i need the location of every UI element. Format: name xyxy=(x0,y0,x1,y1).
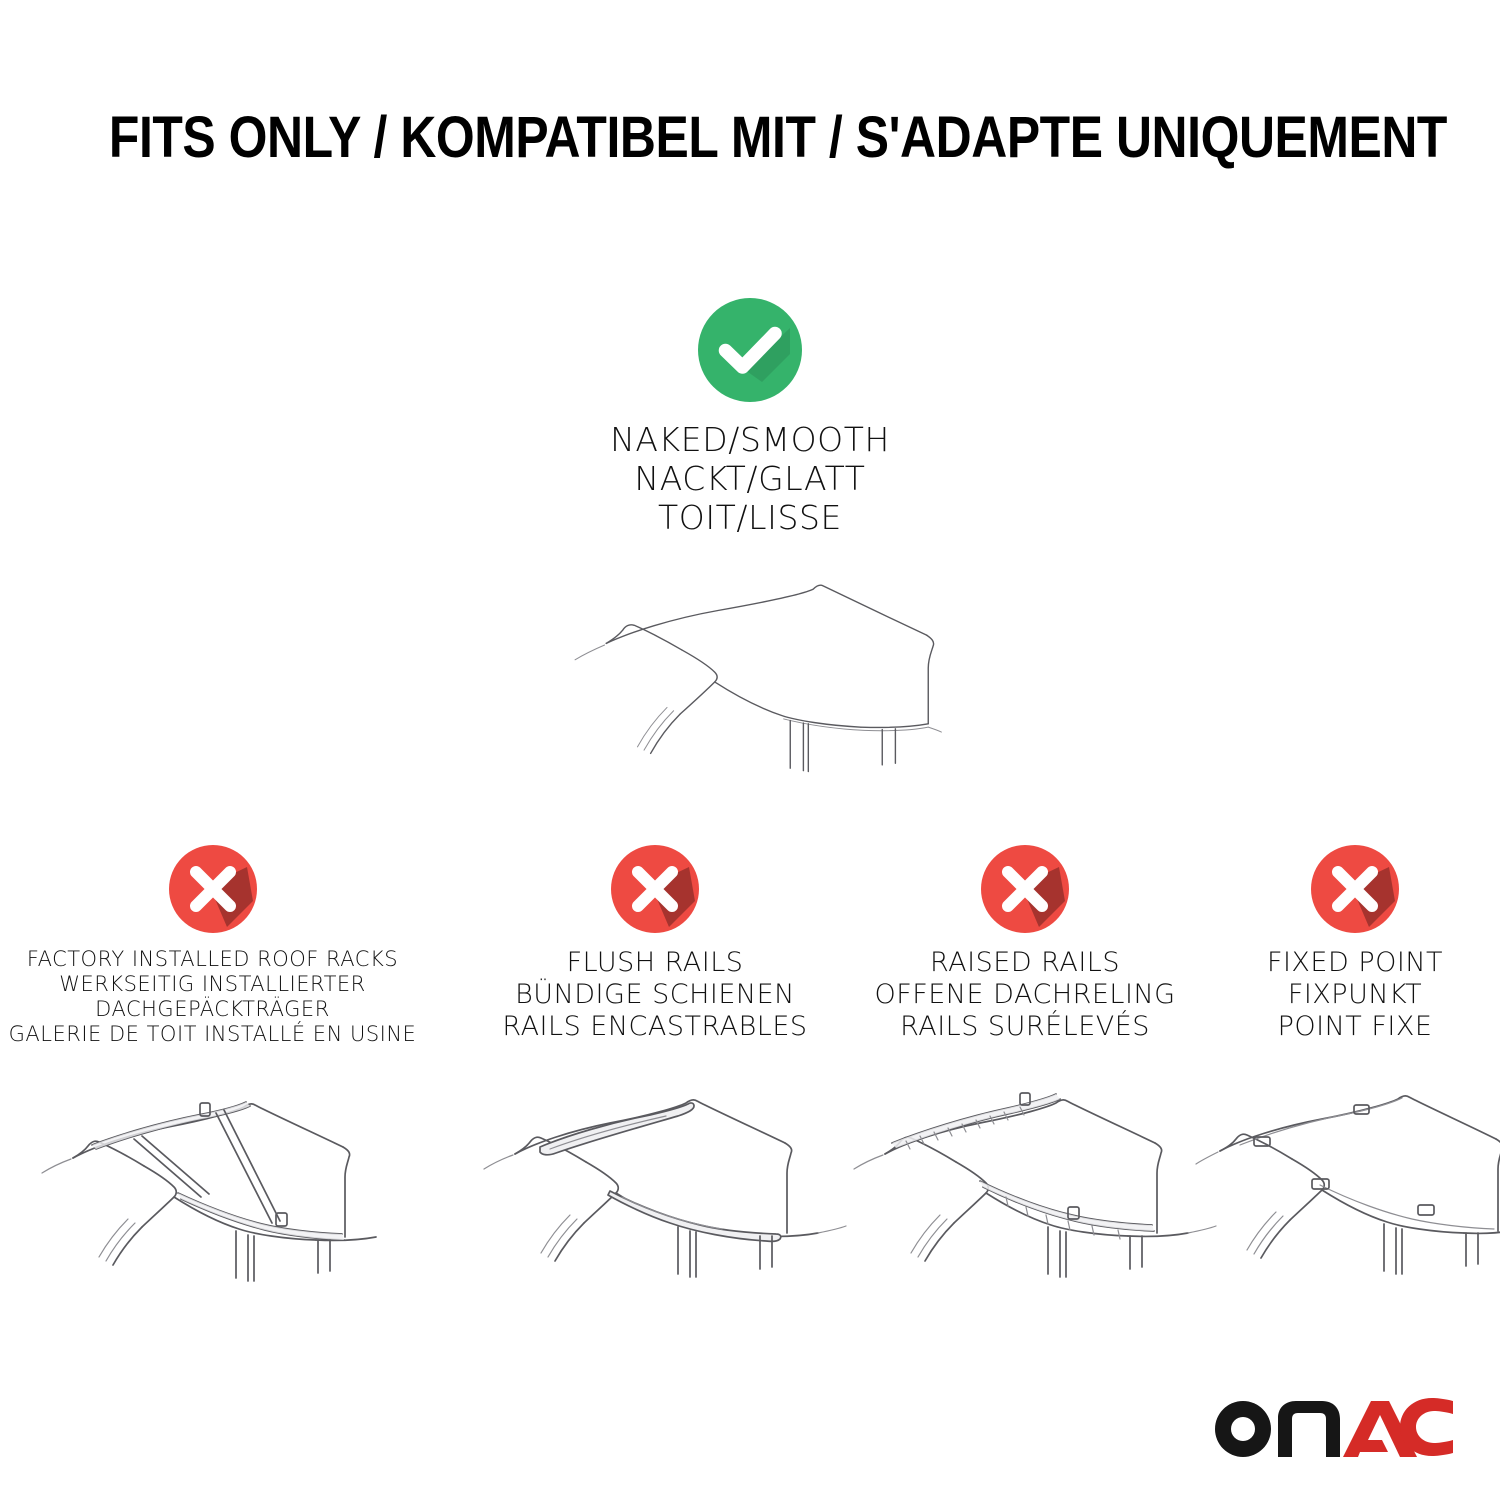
compatible-label-fr: TOIT/LISSE xyxy=(610,498,890,537)
item-label-fr: RAILS SURÉLEVÉS xyxy=(874,1011,1175,1043)
item-label: FIXED POINT FIXPUNKT POINT FIXE xyxy=(1267,947,1443,1043)
incompatible-item-raised-rails: RAISED RAILS OFFENE DACHRELING RAILS SUR… xyxy=(850,845,1200,1289)
red-cross-circle-icon xyxy=(1311,845,1399,933)
omac-logo xyxy=(1210,1396,1455,1458)
incompatible-section: FACTORY INSTALLED ROOF RACKS WERKSEITIG … xyxy=(0,845,1500,1293)
item-label: FACTORY INSTALLED ROOF RACKS WERKSEITIG … xyxy=(9,947,417,1047)
item-label-en: FIXED POINT xyxy=(1267,947,1443,979)
compatible-label-en: NAKED/SMOOTH xyxy=(610,420,890,459)
item-label-fr: POINT FIXE xyxy=(1267,1011,1443,1043)
item-label-de: OFFENE DACHRELING xyxy=(874,979,1175,1011)
item-label: FLUSH RAILS BÜNDIGE SCHIENEN RAILS ENCAS… xyxy=(502,947,807,1043)
item-label: RAISED RAILS OFFENE DACHRELING RAILS SUR… xyxy=(874,947,1175,1043)
car-roof-raised-rails-illustration xyxy=(830,1059,1220,1289)
car-roof-factory-rack-illustration xyxy=(18,1063,408,1293)
car-roof-fixed-point-illustration xyxy=(1190,1059,1500,1289)
incompatible-item-factory-installed-roof-racks: FACTORY INSTALLED ROOF RACKS WERKSEITIG … xyxy=(0,845,425,1293)
item-label-en: FACTORY INSTALLED ROOF RACKS xyxy=(9,947,417,972)
red-cross-circle-icon xyxy=(169,845,257,933)
page-title: FITS ONLY / KOMPATIBEL MIT / S'ADAPTE UN… xyxy=(0,104,1500,171)
item-label-de-1: WERKSEITIG INSTALLIERTER xyxy=(9,972,417,997)
item-label-de-2: DACHGEPÄCKTRÄGER xyxy=(9,997,417,1022)
incompatible-item-flush-rails: FLUSH RAILS BÜNDIGE SCHIENEN RAILS ENCAS… xyxy=(465,845,845,1289)
item-label-fr: GALERIE DE TOIT INSTALLÉ EN USINE xyxy=(9,1022,417,1047)
compatible-label: NAKED/SMOOTH NACKT/GLATT TOIT/LISSE xyxy=(610,420,890,537)
item-label-de: FIXPUNKT xyxy=(1267,979,1443,1011)
red-cross-circle-icon xyxy=(981,845,1069,933)
car-roof-naked-smooth-illustration xyxy=(555,553,945,783)
car-roof-flush-rails-illustration xyxy=(460,1059,850,1289)
compatible-section: NAKED/SMOOTH NACKT/GLATT TOIT/LISSE xyxy=(0,298,1500,783)
item-label-de: BÜNDIGE SCHIENEN xyxy=(502,979,807,1011)
red-cross-circle-icon xyxy=(611,845,699,933)
page-title-text: FITS ONLY / KOMPATIBEL MIT / S'ADAPTE UN… xyxy=(109,104,1447,171)
item-label-en: RAISED RAILS xyxy=(874,947,1175,979)
item-label-fr: RAILS ENCASTRABLES xyxy=(502,1011,807,1043)
green-check-circle-icon xyxy=(698,298,802,402)
incompatible-item-fixed-point: FIXED POINT FIXPUNKT POINT FIXE xyxy=(1210,845,1500,1289)
item-label-en: FLUSH RAILS xyxy=(502,947,807,979)
compatible-label-de: NACKT/GLATT xyxy=(610,459,890,498)
